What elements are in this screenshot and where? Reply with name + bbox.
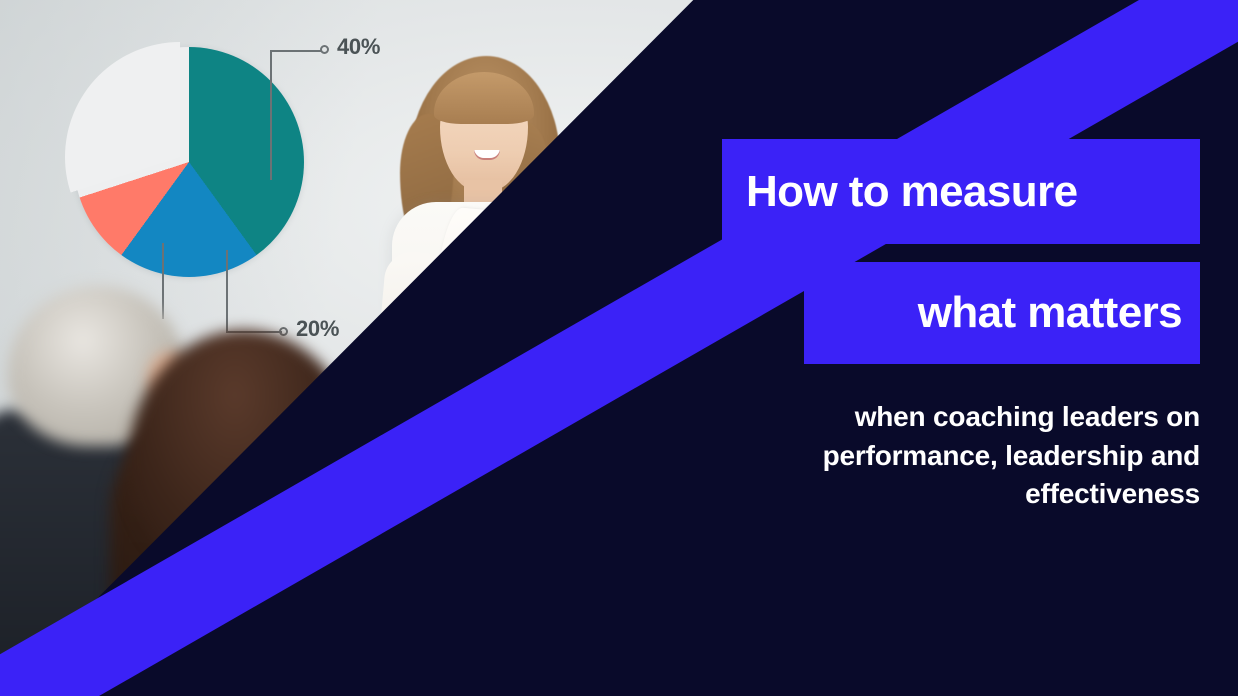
headline-line-2: what matters [918, 291, 1182, 335]
subtitle: when coaching leaders on performance, le… [700, 398, 1200, 514]
pie-callout-line-vertical-20 [226, 250, 228, 333]
pie-callout-dot-20 [279, 327, 288, 336]
headline-block-2: what matters [804, 262, 1200, 364]
subtitle-line-3: effectiveness [700, 475, 1200, 514]
pie-callout-line-coral [162, 243, 164, 319]
subtitle-line-2: performance, leadership and [700, 437, 1200, 476]
pie-slice-light-gray [65, 42, 295, 272]
headline-line-1: How to measure [746, 170, 1077, 214]
subtitle-line-1: when coaching leaders on [700, 398, 1200, 437]
pie-chart: 40% 20% [74, 47, 304, 277]
banner-canvas: 40% 20% 7k 5k 3k 1k 0 [0, 0, 1238, 696]
pie-callout-line-horizontal-40 [270, 50, 322, 52]
headline-block-1: How to measure [722, 139, 1200, 244]
pie-label-20: 20% [296, 316, 339, 342]
pie-callout-dot-40 [320, 45, 329, 54]
pie-callout-line-vertical-40 [270, 50, 272, 180]
